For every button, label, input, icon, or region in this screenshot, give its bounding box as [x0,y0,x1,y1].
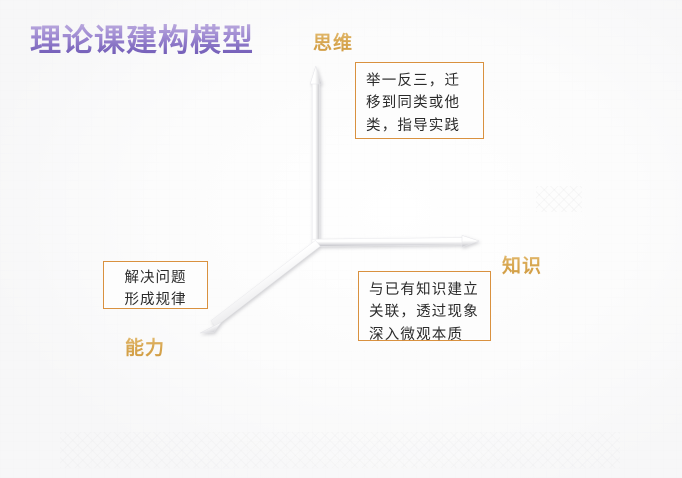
knowledge-note-box: 与已有知识建立 关联，透过现象 深入微观本质 [358,271,491,341]
axis-label-ability: 能力 [125,333,165,360]
note-line: 形成规律 [108,289,203,311]
note-line: 移到同类或他 [366,92,474,114]
axis-label-thinking: 思维 [313,28,353,55]
page-title: 理论课建构模型 [30,24,254,58]
note-line: 与已有知识建立 [369,279,481,301]
background-watermark-bottom [60,432,620,468]
note-line: 解决问题 [108,267,203,289]
slide-canvas: 理论课建构模型 [0,0,682,478]
axis-arrow-diagonal [200,240,320,333]
thinking-note-box: 举一反三，迁 移到同类或他 类，指导实践 [355,62,484,139]
axis-arrow-horizontal [312,235,479,247]
note-line: 类，指导实践 [366,115,474,137]
note-line: 关联，透过现象 [369,301,481,323]
background-texture [0,0,682,478]
axis-label-knowledge: 知识 [502,251,542,278]
axis-diagram [0,0,682,478]
background-watermark-center [536,186,582,212]
note-line: 举一反三，迁 [366,70,474,92]
ability-note-box: 解决问题 形成规律 [103,261,208,309]
note-line: 深入微观本质 [369,324,481,346]
axis-arrow-vertical [310,66,321,244]
